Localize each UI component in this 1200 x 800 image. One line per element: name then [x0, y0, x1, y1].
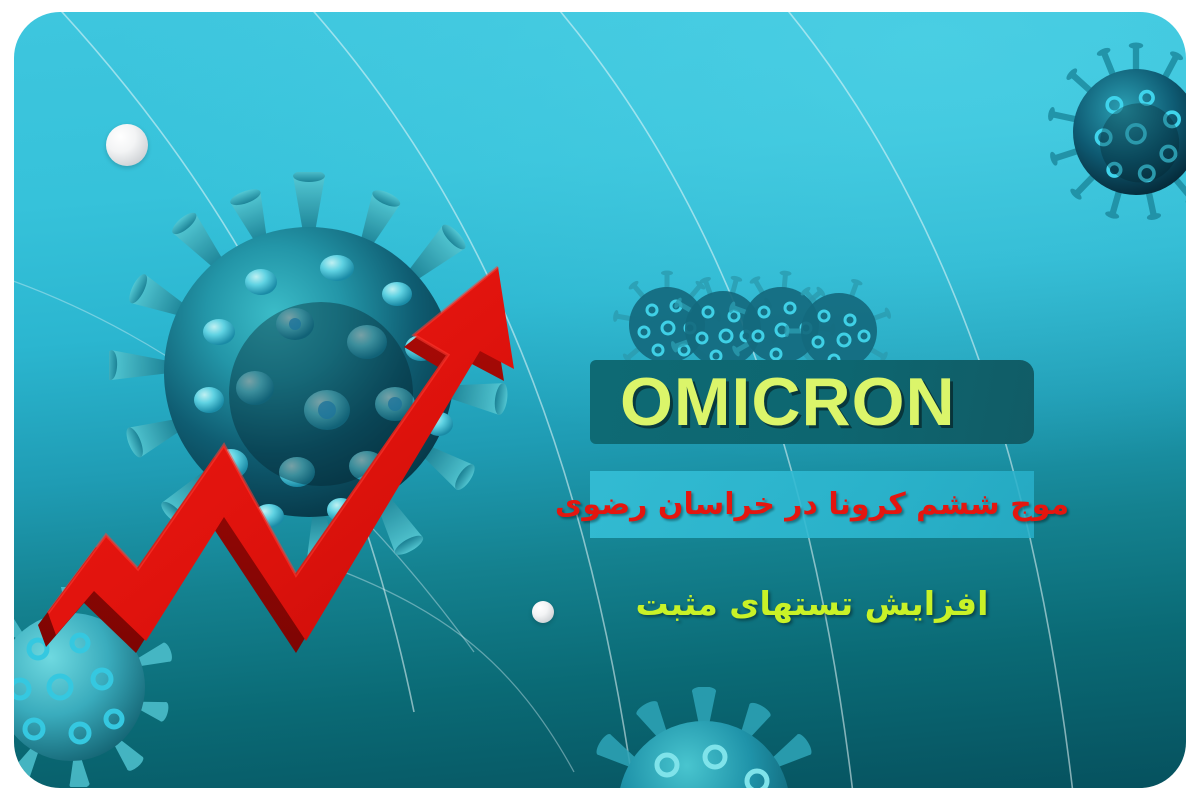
rising-zigzag-arrow-icon: [28, 217, 668, 677]
virus-main-icon: [109, 172, 509, 572]
banner-canvas: OMICRON موج ششم کرونا در خراسان رضوی افز…: [0, 0, 1200, 800]
headline-text-fa: موج ششم کرونا در خراسان رضوی: [555, 487, 1069, 522]
virus-bottomleft-icon: [14, 587, 176, 787]
headline-band: موج ششم کرونا در خراسان رضوی: [590, 471, 1034, 538]
subline-container: افزایش تستهای مثبت: [590, 568, 1034, 638]
virus-bottomcentre-icon: [589, 687, 819, 788]
white-sphere-2: [532, 601, 554, 623]
white-sphere-1: [106, 124, 148, 166]
subline-text-fa: افزایش تستهای مثبت: [636, 584, 989, 623]
banner-card: OMICRON موج ششم کرونا در خراسان رضوی افز…: [14, 12, 1186, 788]
omicron-title-text: OMICRON: [620, 368, 956, 436]
omicron-title-badge: OMICRON: [590, 360, 1034, 444]
virus-topright-icon: [1046, 42, 1186, 222]
